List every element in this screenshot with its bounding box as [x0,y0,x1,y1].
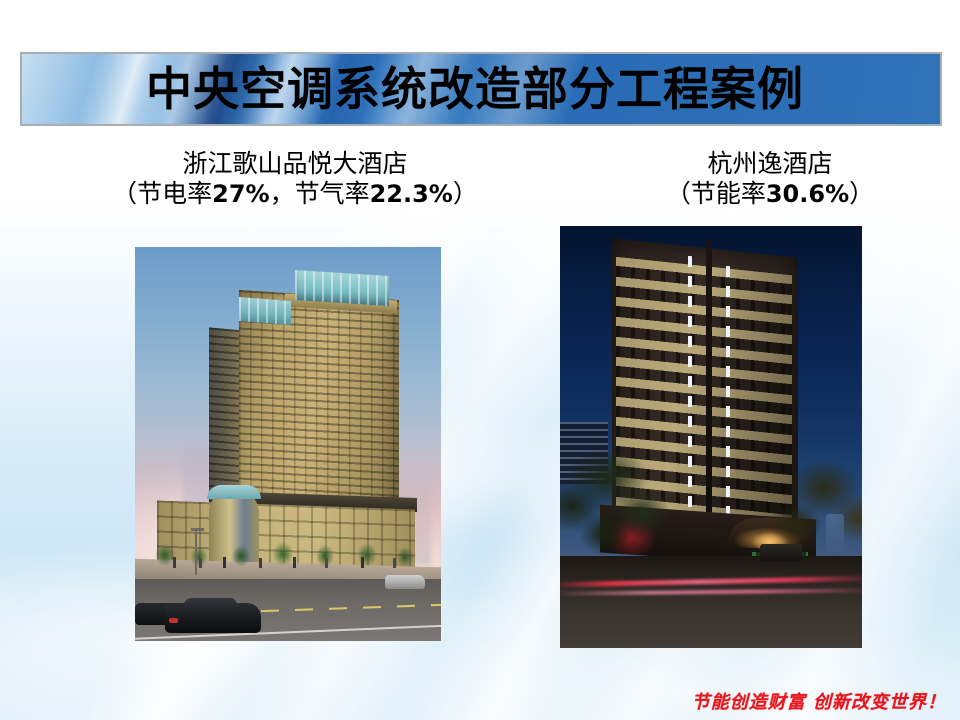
white-car [385,575,425,589]
podium-rotunda-cap [207,485,261,499]
car-tail-light [169,618,178,623]
night-street [560,556,862,648]
building-corner-edge [706,240,712,541]
case-metrics-right: （节能率30.6%） [590,180,950,210]
case-metrics-left: （节电率27%，节气率22.3%） [95,180,495,210]
case-caption-right: 杭州逸酒店 （节能率30.6%） [590,150,950,209]
metric-saving-gas: 22.3% [370,180,453,208]
black-car-roof [183,598,237,613]
tower-crown-main-glass [295,270,389,306]
pedestrians [147,555,427,569]
slide-title-banner: 中央空调系统改造部分工程案例 [20,52,942,126]
case-photo-left [135,247,441,641]
case-name-right: 杭州逸酒店 [590,150,950,180]
footer-slogan: 节能创造财富 创新改变世界！ [692,688,946,714]
facade-light-stripe-b [726,266,730,534]
case-caption-left: 浙江歌山品悦大酒店 （节电率27%，节气率22.3%） [95,150,495,209]
page-title: 中央空调系统改造部分工程案例 [146,66,804,112]
facade-light-stripe-a [688,256,692,528]
metrics-prefix-left: （节电率 [112,181,212,208]
case-name-left: 浙江歌山品悦大酒店 [95,150,495,180]
case-photo-right [560,226,862,648]
street-lamp-pole [195,529,197,575]
metric-saving-electricity: 27% [212,180,269,208]
metrics-suffix-right: ） [849,181,874,208]
parked-vehicle [760,544,802,562]
metrics-prefix-right: （节能率 [666,181,766,208]
metric-saving-energy: 30.6% [766,180,849,208]
street-lamp-arm [191,528,204,531]
presentation-slide: 中央空调系统改造部分工程案例 浙江歌山品悦大酒店 （节电率27%，节气率22.3… [0,0,960,720]
tower-crown-secondary-glass [239,297,291,325]
metrics-middle-left: ，节气率 [270,181,370,208]
metrics-suffix-left: ） [453,181,478,208]
